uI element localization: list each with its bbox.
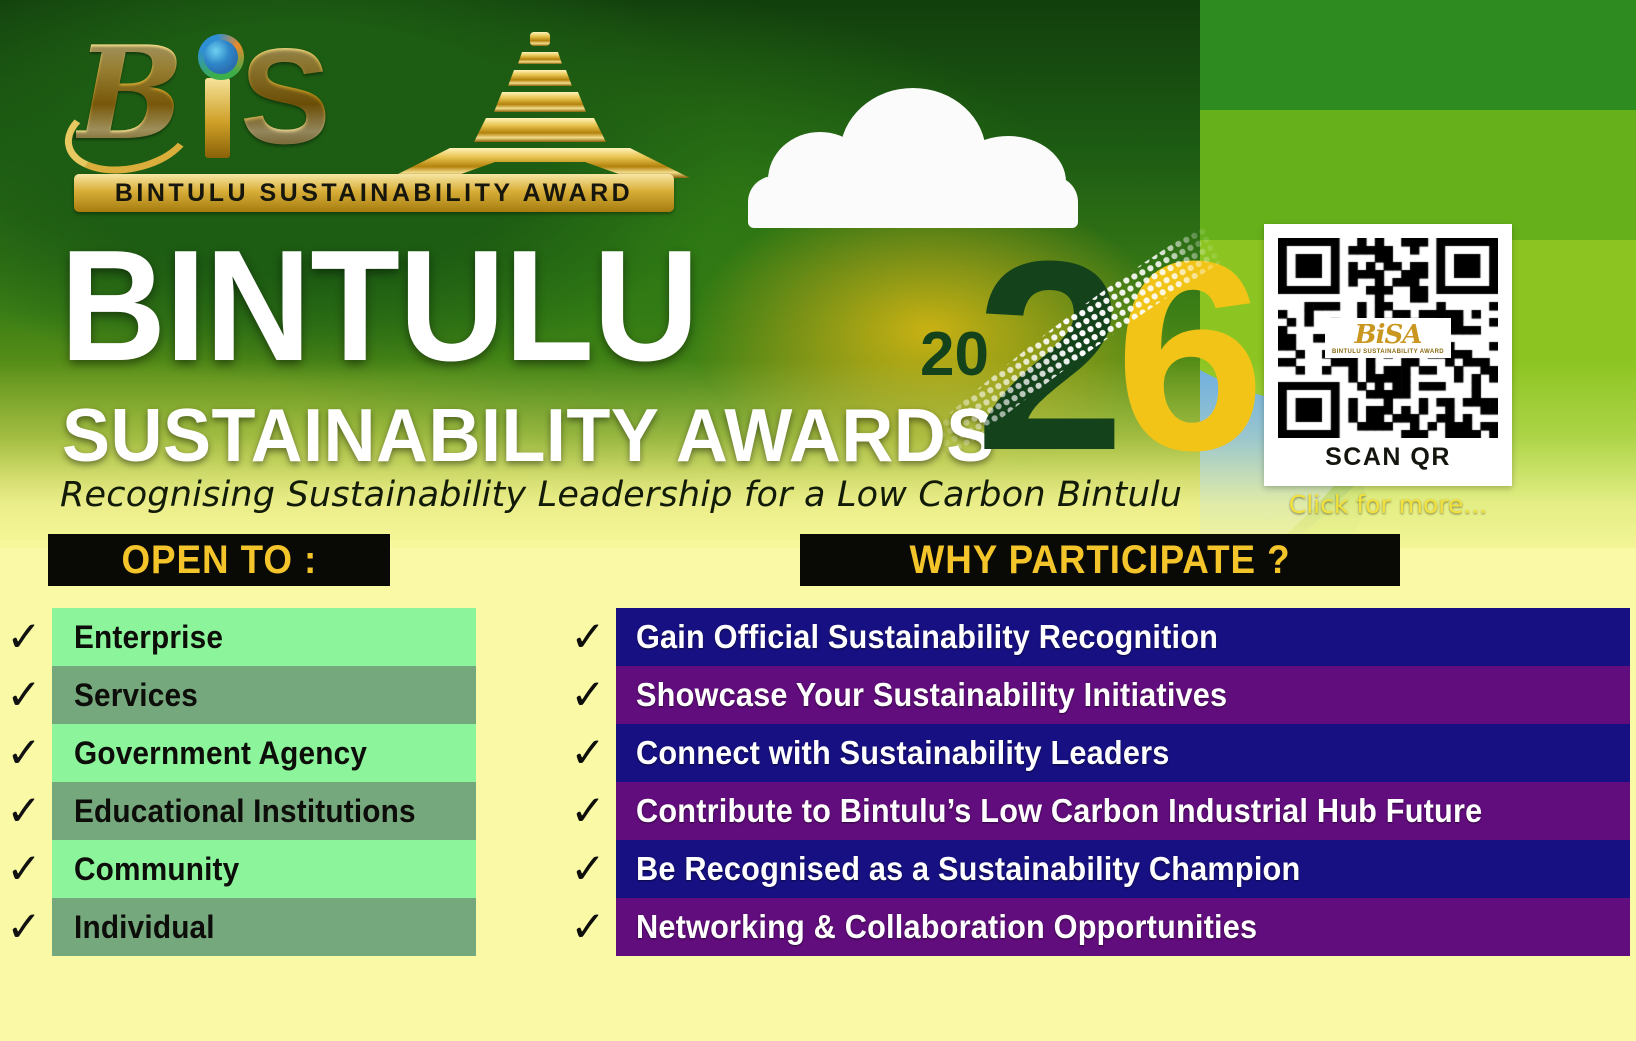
list-item: ✓ Individual [0, 898, 476, 956]
list-item-bar: Services [52, 666, 476, 724]
list-item-label: Be Recognised as a Sustainability Champi… [636, 850, 1300, 888]
check-icon: ✓ [0, 616, 52, 658]
bisa-logo[interactable]: B S [72, 24, 672, 214]
list-item-bar: Contribute to Bintulu’s Low Carbon Indus… [616, 782, 1630, 840]
list-item: ✓ Enterprise [0, 608, 476, 666]
scan-qr-label: SCAN QR [1278, 443, 1498, 472]
list-item: ✓ Connect with Sustainability Leaders [560, 724, 1630, 782]
open-to-header: OPEN TO : [48, 534, 390, 586]
qr-code-image[interactable]: BiSA BINTULU SUSTAINABILITY AWARD [1278, 238, 1498, 438]
list-item: ✓ Government Agency [0, 724, 476, 782]
why-participate-list: ✓ Gain Official Sustainability Recogniti… [560, 608, 1630, 956]
logo-letter-i-stem [205, 78, 230, 158]
list-item: ✓ Gain Official Sustainability Recogniti… [560, 608, 1630, 666]
list-item: ✓ Contribute to Bintulu’s Low Carbon Ind… [560, 782, 1630, 840]
year-prefix: 20 [920, 324, 989, 386]
list-item-bar: Government Agency [52, 724, 476, 782]
click-for-more-link[interactable]: Click for more... [1264, 490, 1512, 519]
list-item: ✓ Community [0, 840, 476, 898]
qr-embedded-logo-text: BiSA [1355, 322, 1422, 348]
page-title: BINTULU [60, 232, 698, 381]
globe-icon [198, 34, 244, 80]
list-item-label: Government Agency [74, 735, 367, 772]
list-item-label: Community [74, 851, 239, 888]
logo-caption-text: BINTULU SUSTAINABILITY AWARD [115, 179, 633, 208]
check-icon: ✓ [0, 906, 52, 948]
qr-embedded-logo: BiSA BINTULU SUSTAINABILITY AWARD [1325, 318, 1451, 358]
poster-root: B S [0, 0, 1636, 1041]
list-item: ✓ Be Recognised as a Sustainability Cham… [560, 840, 1630, 898]
check-icon: ✓ [0, 848, 52, 890]
check-icon: ✓ [560, 848, 616, 890]
why-participate-header: WHY PARTICIPATE ? [800, 534, 1400, 586]
qr-code-card[interactable]: BiSA BINTULU SUSTAINABILITY AWARD SCAN Q… [1264, 224, 1512, 486]
tower-icon [390, 32, 690, 178]
page-subtitle: SUSTAINABILITY AWARDS [62, 398, 995, 473]
check-icon: ✓ [560, 674, 616, 716]
list-item-label: Enterprise [74, 619, 223, 656]
list-item-label: Showcase Your Sustainability Initiatives [636, 676, 1227, 714]
check-icon: ✓ [560, 732, 616, 774]
check-icon: ✓ [560, 616, 616, 658]
logo-caption: BINTULU SUSTAINABILITY AWARD [74, 174, 674, 212]
logo-letter-s: S [240, 28, 331, 164]
why-participate-header-text: WHY PARTICIPATE ? [910, 538, 1291, 583]
check-icon: ✓ [560, 906, 616, 948]
list-item-bar: Gain Official Sustainability Recognition [616, 608, 1630, 666]
qr-embedded-logo-subtext: BINTULU SUSTAINABILITY AWARD [1332, 349, 1444, 355]
list-item-bar: Individual [52, 898, 476, 956]
list-item-bar: Community [52, 840, 476, 898]
list-item-label: Educational Institutions [74, 793, 416, 830]
list-item-label: Services [74, 677, 198, 714]
open-to-header-text: OPEN TO : [121, 538, 317, 583]
list-item: ✓ Services [0, 666, 476, 724]
logo-letter-b: B [76, 30, 184, 158]
check-icon: ✓ [0, 732, 52, 774]
list-item-label: Connect with Sustainability Leaders [636, 734, 1169, 772]
year-digit-six: 6 [1115, 222, 1265, 492]
year-digit-two: 2 [975, 222, 1125, 492]
list-item-label: Gain Official Sustainability Recognition [636, 618, 1218, 656]
list-item-bar: Enterprise [52, 608, 476, 666]
list-item-label: Contribute to Bintulu’s Low Carbon Indus… [636, 792, 1482, 830]
list-item: ✓ Networking & Collaboration Opportuniti… [560, 898, 1630, 956]
list-item-bar: Showcase Your Sustainability Initiatives [616, 666, 1630, 724]
list-item: ✓ Educational Institutions [0, 782, 476, 840]
check-icon: ✓ [0, 790, 52, 832]
list-item: ✓ Showcase Your Sustainability Initiativ… [560, 666, 1630, 724]
check-icon: ✓ [560, 790, 616, 832]
list-item-bar: Networking & Collaboration Opportunities [616, 898, 1630, 956]
list-item-bar: Educational Institutions [52, 782, 476, 840]
list-item-label: Individual [74, 909, 215, 946]
year-graphic: 6 2 20 [905, 232, 1235, 494]
list-item-bar: Be Recognised as a Sustainability Champi… [616, 840, 1630, 898]
check-icon: ✓ [0, 674, 52, 716]
open-to-list: ✓ Enterprise ✓ Services ✓ Government Age… [0, 608, 476, 956]
list-item-bar: Connect with Sustainability Leaders [616, 724, 1630, 782]
list-item-label: Networking & Collaboration Opportunities [636, 908, 1257, 946]
